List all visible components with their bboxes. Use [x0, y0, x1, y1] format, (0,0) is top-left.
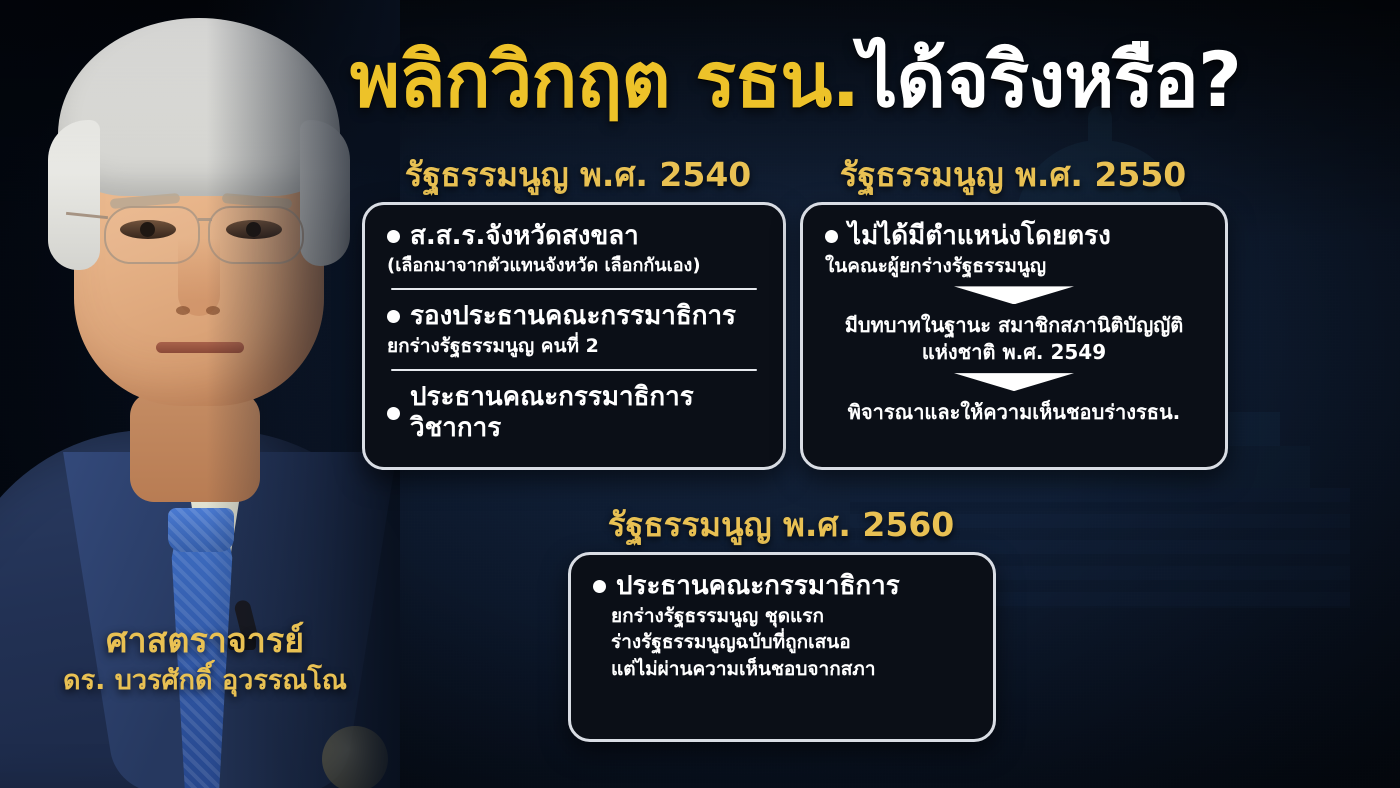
flow-step-1-cont: แห่งชาติ พ.ศ. 2549: [825, 339, 1203, 365]
speaker-caption: ศาสตราจารย์ ดร. บวรศักดิ์ อุวรรณโณ: [40, 624, 370, 695]
section-heading-2560: รัฐธรรมนูญ พ.ศ. 2560: [566, 498, 996, 551]
list-item-sub-2: ร่างรัฐธรรมนูญฉบับที่ถูกเสนอ: [611, 630, 971, 655]
bullet-icon: [387, 230, 400, 243]
down-arrow-icon: [954, 373, 1074, 391]
page-title-white: ได้จริงหรือ?: [859, 35, 1241, 124]
card-2560: ประธานคณะกรรมาธิการ ยกร่างรัฐธรรมนูญ ชุด…: [568, 552, 996, 742]
list-item: ไม่ได้มีตำแหน่งโดยตรง ในคณะผู้ยกร่างรัฐธ…: [825, 221, 1203, 278]
list-item: รองประธานคณะกรรมาธิการ ยกร่างรัฐธรรมนูญ …: [387, 301, 761, 358]
list-item-main: ประธานคณะกรรมาธิการ: [593, 571, 971, 602]
speaker-name: ดร. บวรศักดิ์ อุวรรณโณ: [40, 666, 370, 696]
speaker-title: ศาสตราจารย์: [40, 624, 370, 660]
divider: [391, 288, 757, 290]
card-2550: ไม่ได้มีตำแหน่งโดยตรง ในคณะผู้ยกร่างรัฐธ…: [800, 202, 1228, 470]
down-arrow-icon: [954, 286, 1074, 304]
list-item-sub: ในคณะผู้ยกร่างรัฐธรรมนูญ: [825, 254, 1203, 279]
page-title-gold: พลิกวิกฤต รธน.: [350, 35, 859, 124]
list-item-sub-3: แต่ไม่ผ่านความเห็นชอบจากสภา: [611, 657, 971, 682]
bullet-icon: [387, 407, 400, 420]
list-item-main: ไม่ได้มีตำแหน่งโดยตรง: [825, 221, 1203, 252]
list-item: ประธานคณะกรรมาธิการวิชาการ: [387, 382, 761, 443]
flow-step-1: มีบทบาทในฐานะ สมาชิกสภานิติบัญญัติ: [825, 312, 1203, 338]
bullet-icon: [387, 310, 400, 323]
list-item-title: ไม่ได้มีตำแหน่งโดยตรง: [848, 221, 1111, 252]
divider: [391, 369, 757, 371]
section-heading-2550: รัฐธรรมนูญ พ.ศ. 2550: [828, 148, 1198, 201]
list-item-main: ประธานคณะกรรมาธิการวิชาการ: [387, 382, 761, 443]
list-item-main: รองประธานคณะกรรมาธิการ: [387, 301, 761, 332]
list-item: ประธานคณะกรรมาธิการ ยกร่างรัฐธรรมนูญ ชุด…: [593, 571, 971, 682]
list-item-sub: ยกร่างรัฐธรรมนูญ คนที่ 2: [387, 334, 761, 359]
list-item-title: ส.ส.ร.จังหวัดสงขลา: [410, 221, 639, 252]
bullet-icon: [825, 230, 838, 243]
card-2540: ส.ส.ร.จังหวัดสงขลา (เลือกมาจากตัวแทนจังห…: [362, 202, 786, 470]
bullet-icon: [593, 580, 606, 593]
list-item-main: ส.ส.ร.จังหวัดสงขลา: [387, 221, 761, 252]
list-item-title: ประธานคณะกรรมาธิการ: [616, 571, 900, 602]
list-item-title: ประธานคณะกรรมาธิการวิชาการ: [410, 382, 761, 443]
list-item-title: รองประธานคณะกรรมาธิการ: [410, 301, 736, 332]
list-item: ส.ส.ร.จังหวัดสงขลา (เลือกมาจากตัวแทนจังห…: [387, 221, 761, 277]
infographic-canvas: พลิกวิกฤต รธน.ได้จริงหรือ? รัฐธรรมนูญ พ.…: [0, 0, 1400, 788]
page-title: พลิกวิกฤต รธน.ได้จริงหรือ?: [350, 42, 1210, 118]
list-item-sub: (เลือกมาจากตัวแทนจังหวัด เลือกกันเอง): [387, 254, 761, 277]
list-item-sub-1: ยกร่างรัฐธรรมนูญ ชุดแรก: [611, 604, 971, 629]
section-heading-2540: รัฐธรรมนูญ พ.ศ. 2540: [388, 148, 768, 201]
flow-step-2: พิจารณาและให้ความเห็นชอบร่างรธน.: [825, 399, 1203, 425]
